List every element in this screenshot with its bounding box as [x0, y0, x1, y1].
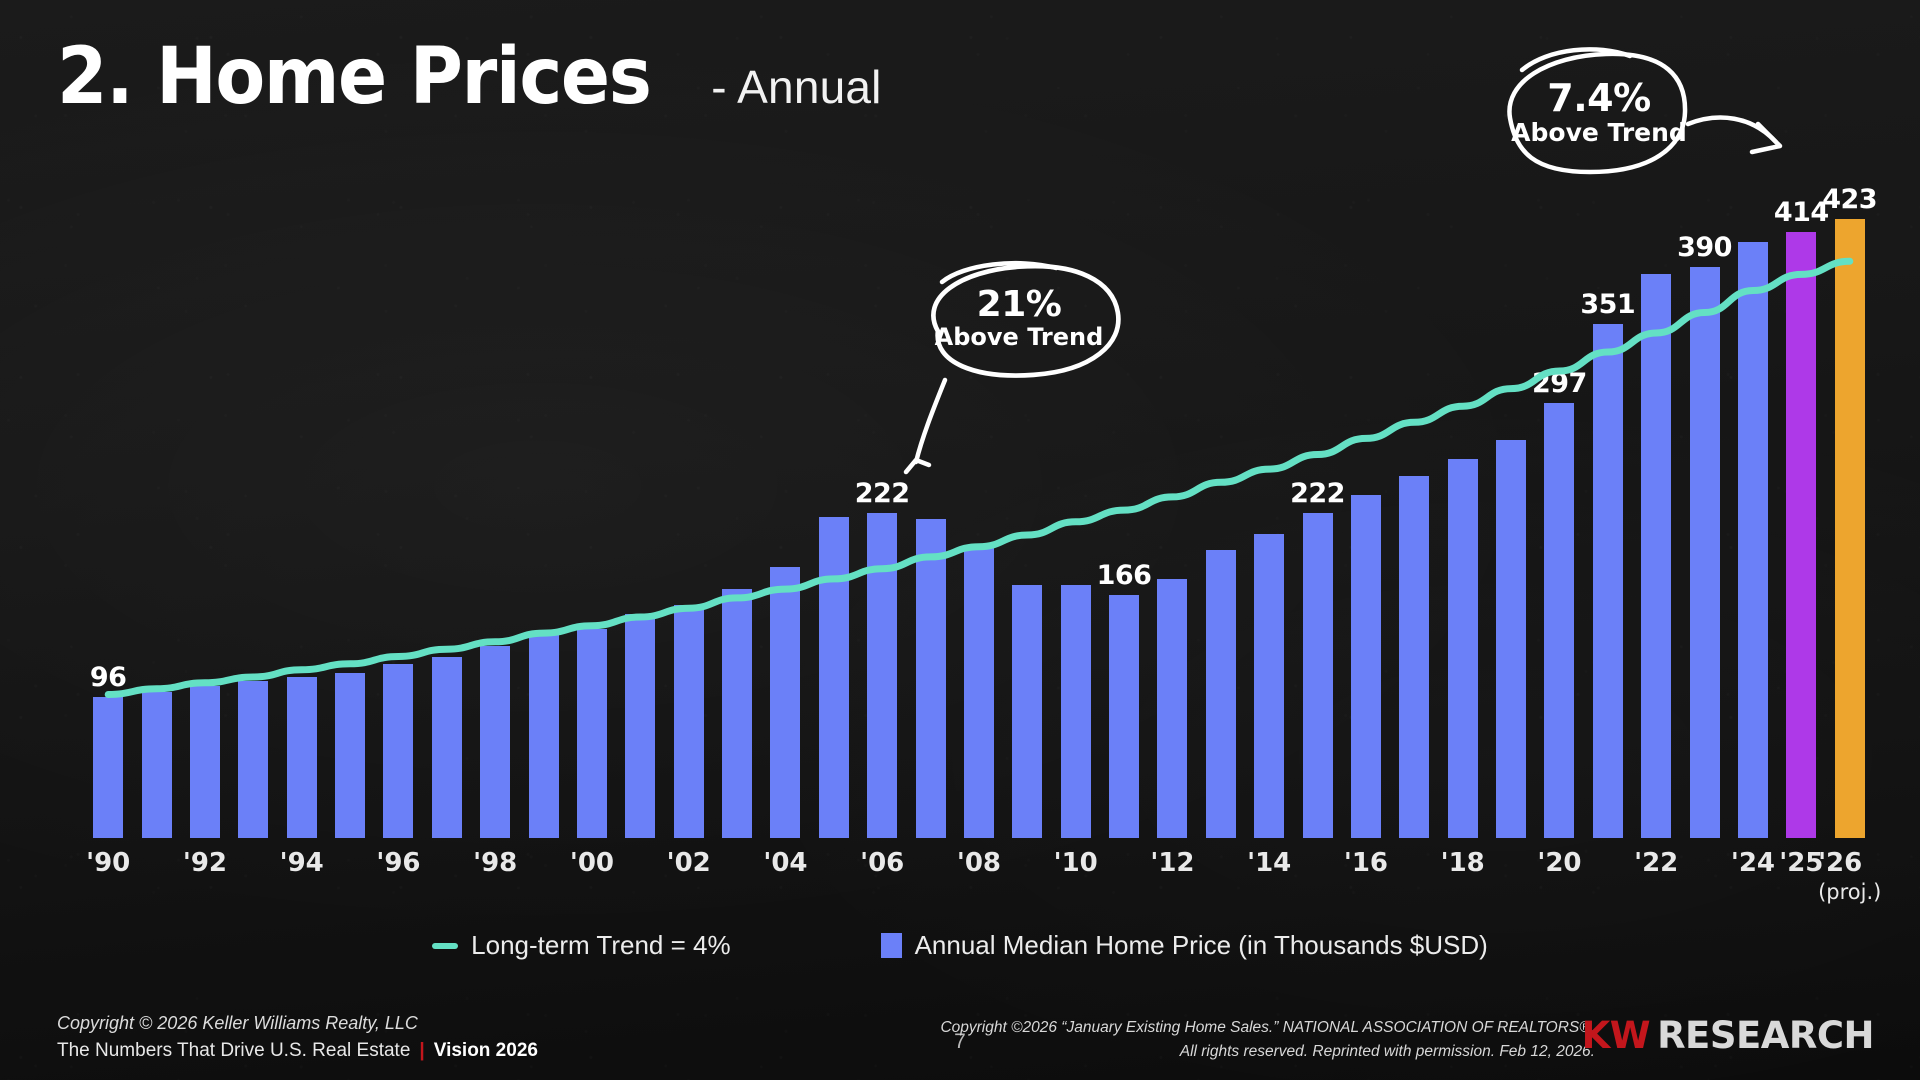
x-tick-label-16: '16	[1344, 848, 1388, 878]
x-tick-slot-98: '98	[471, 838, 519, 904]
x-tick-slot-15	[1293, 838, 1341, 904]
bar-slot-18	[1439, 150, 1487, 838]
bar-slot-13	[1197, 150, 1245, 838]
x-tick-label-08: '08	[957, 848, 1001, 878]
subtitle-text: - Annual	[711, 60, 881, 114]
bar-slot-03	[713, 150, 761, 838]
x-tick-label-14: '14	[1247, 848, 1291, 878]
bar-slot-25: 414	[1777, 150, 1825, 838]
bar-10[interactable]	[1061, 585, 1091, 838]
callout-74-caption: Above Trend	[1511, 118, 1687, 147]
x-tick-slot-05	[810, 838, 858, 904]
x-tick-label-24: '24	[1731, 848, 1775, 878]
x-tick-slot-19	[1487, 838, 1535, 904]
x-tick-label-10: '10	[1054, 848, 1098, 878]
x-tick-label-25: '25	[1779, 848, 1823, 878]
bar-09[interactable]	[1012, 585, 1042, 838]
bar-20[interactable]: 297	[1544, 403, 1574, 838]
bar-97[interactable]	[432, 657, 462, 839]
bar-12[interactable]	[1157, 579, 1187, 838]
x-tick-slot-11	[1100, 838, 1148, 904]
x-tick-slot-14: '14	[1245, 838, 1293, 904]
bar-25[interactable]: 414	[1786, 232, 1816, 838]
source-line-1: Copyright ©2026 “January Existing Home S…	[940, 1016, 1595, 1040]
bar-08[interactable]	[964, 548, 994, 838]
source-line-2: All rights reserved. Reprinted with perm…	[940, 1040, 1595, 1064]
x-tick-proj-note: (proj.)	[1818, 880, 1881, 904]
x-tick-slot-20: '20	[1535, 838, 1583, 904]
x-tick-label-06: '06	[860, 848, 904, 878]
bar-93[interactable]	[238, 681, 268, 838]
kw-research-logo: KW RESEARCH	[1582, 1014, 1874, 1057]
bar-slot-99	[519, 150, 567, 838]
bar-value-label-21: 351	[1580, 289, 1635, 320]
bar-slot-94	[278, 150, 326, 838]
x-tick-slot-92: '92	[181, 838, 229, 904]
bar-slot-26: 423	[1826, 150, 1874, 838]
x-tick-slot-96: '96	[374, 838, 422, 904]
x-tick-slot-08: '08	[955, 838, 1003, 904]
bar-slot-06: 222	[858, 150, 906, 838]
title-text: 2. Home Prices	[57, 38, 651, 116]
bar-slot-19	[1487, 150, 1535, 838]
x-tick-slot-99	[519, 838, 567, 904]
x-tick-label-18: '18	[1441, 848, 1485, 878]
x-tick-label-92: '92	[183, 848, 227, 878]
x-tick-slot-26: '26(proj.)	[1826, 838, 1874, 904]
x-tick-slot-02: '02	[665, 838, 713, 904]
bar-slot-90: 96	[84, 150, 132, 838]
bar-value-label-23: 390	[1677, 232, 1732, 263]
bar-value-label-25: 414	[1774, 197, 1829, 228]
bar-21[interactable]: 351	[1593, 324, 1623, 838]
x-tick-slot-01	[616, 838, 664, 904]
bar-slot-12	[1148, 150, 1196, 838]
x-tick-slot-06: '06	[858, 838, 906, 904]
x-tick-slot-18: '18	[1439, 838, 1487, 904]
bar-96[interactable]	[383, 664, 413, 838]
x-tick-slot-13	[1197, 838, 1245, 904]
bar-00[interactable]	[577, 629, 607, 838]
x-tick-slot-17	[1390, 838, 1438, 904]
bar-slot-23: 390	[1680, 150, 1728, 838]
bar-18[interactable]	[1448, 459, 1478, 838]
x-tick-slot-97	[423, 838, 471, 904]
bar-19[interactable]	[1496, 440, 1526, 838]
bar-slot-10	[1052, 150, 1100, 838]
bar-22[interactable]	[1641, 274, 1671, 838]
bar-series: 96222166222297351390414423	[84, 150, 1874, 838]
chart-legend: Long-term Trend = 4% Annual Median Home …	[0, 930, 1920, 961]
bar-slot-98	[471, 150, 519, 838]
x-tick-slot-24: '24	[1729, 838, 1777, 904]
bar-15[interactable]: 222	[1303, 513, 1333, 838]
bar-slot-11: 166	[1100, 150, 1148, 838]
box-swatch-icon	[881, 933, 902, 958]
x-tick-slot-90: '90	[84, 838, 132, 904]
legend-label-trend: Long-term Trend = 4%	[471, 930, 730, 961]
bar-91[interactable]	[142, 692, 172, 838]
bar-26[interactable]: 423	[1835, 219, 1865, 838]
bar-value-label-15: 222	[1290, 478, 1345, 509]
x-tick-label-94: '94	[280, 848, 324, 878]
bar-slot-20: 297	[1535, 150, 1583, 838]
bar-23[interactable]: 390	[1690, 267, 1720, 838]
legend-item-median-price[interactable]: Annual Median Home Price (in Thousands $…	[881, 930, 1488, 961]
x-tick-slot-95	[326, 838, 374, 904]
bar-slot-08	[955, 150, 1003, 838]
bar-06[interactable]: 222	[867, 513, 897, 838]
x-tick-slot-93	[229, 838, 277, 904]
bar-slot-07	[906, 150, 954, 838]
bar-slot-93	[229, 150, 277, 838]
bar-slot-97	[423, 150, 471, 838]
bar-slot-01	[616, 150, 664, 838]
x-tick-label-00: '00	[570, 848, 614, 878]
bar-95[interactable]	[335, 673, 365, 838]
chart-plot-area: 96222166222297351390414423	[84, 150, 1874, 838]
x-tick-slot-09	[1003, 838, 1051, 904]
x-tick-slot-04: '04	[761, 838, 809, 904]
bar-value-label-06: 222	[855, 478, 910, 509]
bar-slot-92	[181, 150, 229, 838]
bar-16[interactable]	[1351, 495, 1381, 838]
bar-value-label-20: 297	[1532, 368, 1587, 399]
x-tick-slot-22: '22	[1632, 838, 1680, 904]
x-tick-label-22: '22	[1634, 848, 1678, 878]
bar-slot-95	[326, 150, 374, 838]
bar-slot-21: 351	[1584, 150, 1632, 838]
bar-13[interactable]	[1206, 550, 1236, 838]
x-tick-label-96: '96	[376, 848, 420, 878]
legend-item-trend[interactable]: Long-term Trend = 4%	[432, 930, 730, 961]
bar-07[interactable]	[916, 519, 946, 838]
x-tick-slot-03	[713, 838, 761, 904]
x-axis: '90'92'94'96'98'00'02'04'06'08'10'12'14'…	[84, 838, 1874, 904]
bar-slot-04	[761, 150, 809, 838]
x-tick-slot-21	[1584, 838, 1632, 904]
bar-94[interactable]	[287, 677, 317, 838]
bar-99[interactable]	[529, 635, 559, 838]
x-tick-label-12: '12	[1150, 848, 1194, 878]
bar-slot-14	[1245, 150, 1293, 838]
x-tick-slot-12: '12	[1148, 838, 1196, 904]
bar-value-label-90: 96	[90, 662, 127, 693]
x-tick-label-04: '04	[763, 848, 807, 878]
x-tick-label-02: '02	[667, 848, 711, 878]
x-tick-slot-16: '16	[1342, 838, 1390, 904]
bar-04[interactable]	[770, 567, 800, 838]
bar-slot-05	[810, 150, 858, 838]
bar-90[interactable]: 96	[93, 697, 123, 838]
bar-05[interactable]	[819, 517, 849, 838]
bar-slot-02	[665, 150, 713, 838]
bar-value-label-11: 166	[1097, 560, 1152, 591]
bar-03[interactable]	[722, 589, 752, 838]
x-tick-slot-10: '10	[1052, 838, 1100, 904]
slide-canvas: 2. Home Prices - Annual 9622216622229735…	[0, 0, 1920, 1080]
footer-source-citation: Copyright ©2026 “January Existing Home S…	[940, 1016, 1595, 1064]
bar-slot-15: 222	[1293, 150, 1341, 838]
bar-slot-16	[1342, 150, 1390, 838]
bar-11[interactable]: 166	[1109, 595, 1139, 838]
legend-label-median-price: Annual Median Home Price (in Thousands $…	[915, 930, 1488, 961]
bar-92[interactable]	[190, 686, 220, 838]
logo-research-text: RESEARCH	[1657, 1014, 1874, 1057]
page-title: 2. Home Prices - Annual	[57, 38, 882, 116]
x-tick-slot-94: '94	[278, 838, 326, 904]
bar-24[interactable]	[1738, 242, 1768, 838]
x-tick-label-90: '90	[86, 848, 130, 878]
x-tick-slot-00: '00	[568, 838, 616, 904]
bar-slot-17	[1390, 150, 1438, 838]
x-tick-label-20: '20	[1537, 848, 1581, 878]
bar-14[interactable]	[1254, 534, 1284, 838]
x-tick-slot-07	[906, 838, 954, 904]
bar-01[interactable]	[625, 614, 655, 838]
bar-slot-96	[374, 150, 422, 838]
x-tick-slot-91	[132, 838, 180, 904]
bar-slot-09	[1003, 150, 1051, 838]
bar-98[interactable]	[480, 646, 510, 838]
bar-17[interactable]	[1399, 476, 1429, 838]
x-tick-label-98: '98	[473, 848, 517, 878]
callout-74-percent: 7.4%	[1547, 76, 1650, 120]
bar-slot-00	[568, 150, 616, 838]
bar-slot-91	[132, 150, 180, 838]
bar-value-label-26: 423	[1822, 184, 1877, 215]
x-tick-label-26: '26(proj.)	[1818, 848, 1881, 904]
logo-kw-text: KW	[1582, 1014, 1650, 1057]
bar-slot-24	[1729, 150, 1777, 838]
bar-slot-22	[1632, 150, 1680, 838]
bar-02[interactable]	[674, 605, 704, 838]
x-tick-slot-23	[1680, 838, 1728, 904]
line-swatch-icon	[432, 943, 458, 949]
